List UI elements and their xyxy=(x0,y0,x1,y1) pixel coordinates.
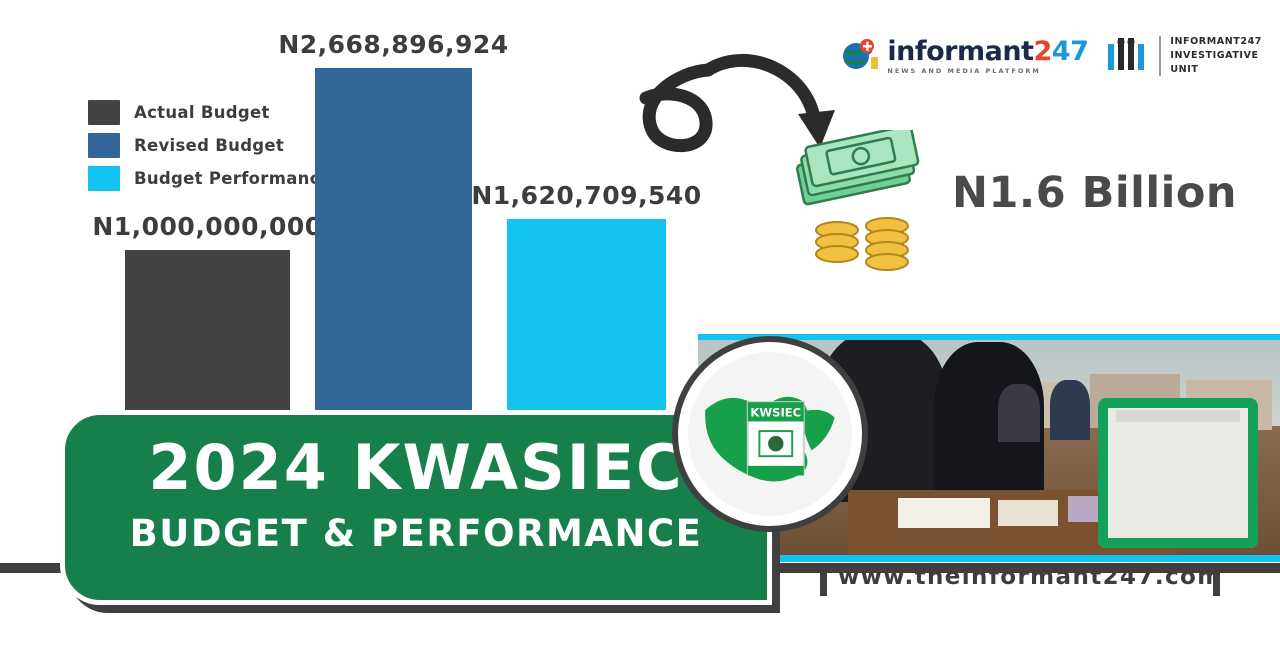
bottom-margin xyxy=(0,620,1280,670)
legend-label-actual-budget: Actual Budget xyxy=(134,103,270,122)
legend-item-actual-budget: Actual Budget xyxy=(88,100,331,125)
informant247-logo: informant247 NEWS AND MEDIA PLATFORM xyxy=(839,35,1088,77)
legend-label-revised-budget: Revised Budget xyxy=(134,136,284,155)
logo-divider xyxy=(1159,36,1161,76)
photo-ballot-bag xyxy=(1098,398,1258,548)
bar-revised-budget: N2,668,896,924 xyxy=(315,68,472,420)
photo-paper-1 xyxy=(898,498,990,528)
bar-budget-performance: N1,620,709,540 xyxy=(507,219,666,420)
page-subtitle: BUDGET & PERFORMANCE xyxy=(65,499,767,552)
photo-person-4 xyxy=(1050,380,1090,440)
legend-swatch-budget-performance xyxy=(88,166,120,191)
website-url: www.theinformant247.com xyxy=(838,564,1223,590)
logo-word-part2: 2 xyxy=(1033,36,1051,67)
chart-legend: Actual Budget Revised Budget Budget Perf… xyxy=(88,100,331,199)
logo-word-part3: 47 xyxy=(1052,36,1089,67)
logo-tagline: NEWS AND MEDIA PLATFORM xyxy=(887,68,1088,75)
informant247-wordmark: informant247 NEWS AND MEDIA PLATFORM xyxy=(887,38,1088,75)
logo-group: informant247 NEWS AND MEDIA PLATFORM INF… xyxy=(839,34,1262,78)
iiu-line-1: INFORMANT247 xyxy=(1170,35,1262,49)
kwsiec-emblem-icon: KWSIEC xyxy=(688,352,852,516)
title-plaque: 2024 KWASIEC BUDGET & PERFORMANCE xyxy=(60,410,772,605)
iiu-logo: INFORMANT247 INVESTIGATIVE UNIT xyxy=(1106,34,1262,78)
bar-value-actual-budget: N1,000,000,000 xyxy=(92,212,322,250)
svg-text:KWSIEC: KWSIEC xyxy=(750,406,801,420)
infographic-canvas: informant247 NEWS AND MEDIA PLATFORM INF… xyxy=(0,0,1280,670)
page-title: 2024 KWASIEC xyxy=(65,415,767,499)
bar-value-budget-performance: N1,620,709,540 xyxy=(471,181,701,219)
bar-value-revised-budget: N2,668,896,924 xyxy=(278,30,508,68)
callout-amount: N1.6 Billion xyxy=(952,168,1237,218)
bar-actual-budget: N1,000,000,000 xyxy=(125,250,290,420)
photo-person-3 xyxy=(998,384,1040,442)
iiu-line-2: INVESTIGATIVE xyxy=(1170,49,1262,63)
legend-swatch-revised-budget xyxy=(88,133,120,158)
iiu-logo-text: INFORMANT247 INVESTIGATIVE UNIT xyxy=(1170,35,1262,76)
legend-swatch-actual-budget xyxy=(88,100,120,125)
kwsiec-seal: KWSIEC xyxy=(672,336,868,532)
globe-icon xyxy=(839,35,881,77)
legend-item-budget-performance: Budget Performance xyxy=(88,166,331,191)
iiu-line-3: UNIT xyxy=(1170,63,1262,77)
logo-word-part1: informant xyxy=(887,36,1033,67)
kwsiec-seal-inner: KWSIEC xyxy=(688,352,852,516)
money-stack-icon xyxy=(795,130,935,275)
photo-paper-2 xyxy=(998,500,1058,526)
legend-item-revised-budget: Revised Budget xyxy=(88,133,331,158)
website-rule-right xyxy=(1213,566,1220,596)
legend-label-budget-performance: Budget Performance xyxy=(134,169,331,188)
iiu-mark-icon xyxy=(1106,34,1150,78)
website-rule-left xyxy=(820,566,827,596)
photo-accent-bottom xyxy=(698,555,1280,562)
